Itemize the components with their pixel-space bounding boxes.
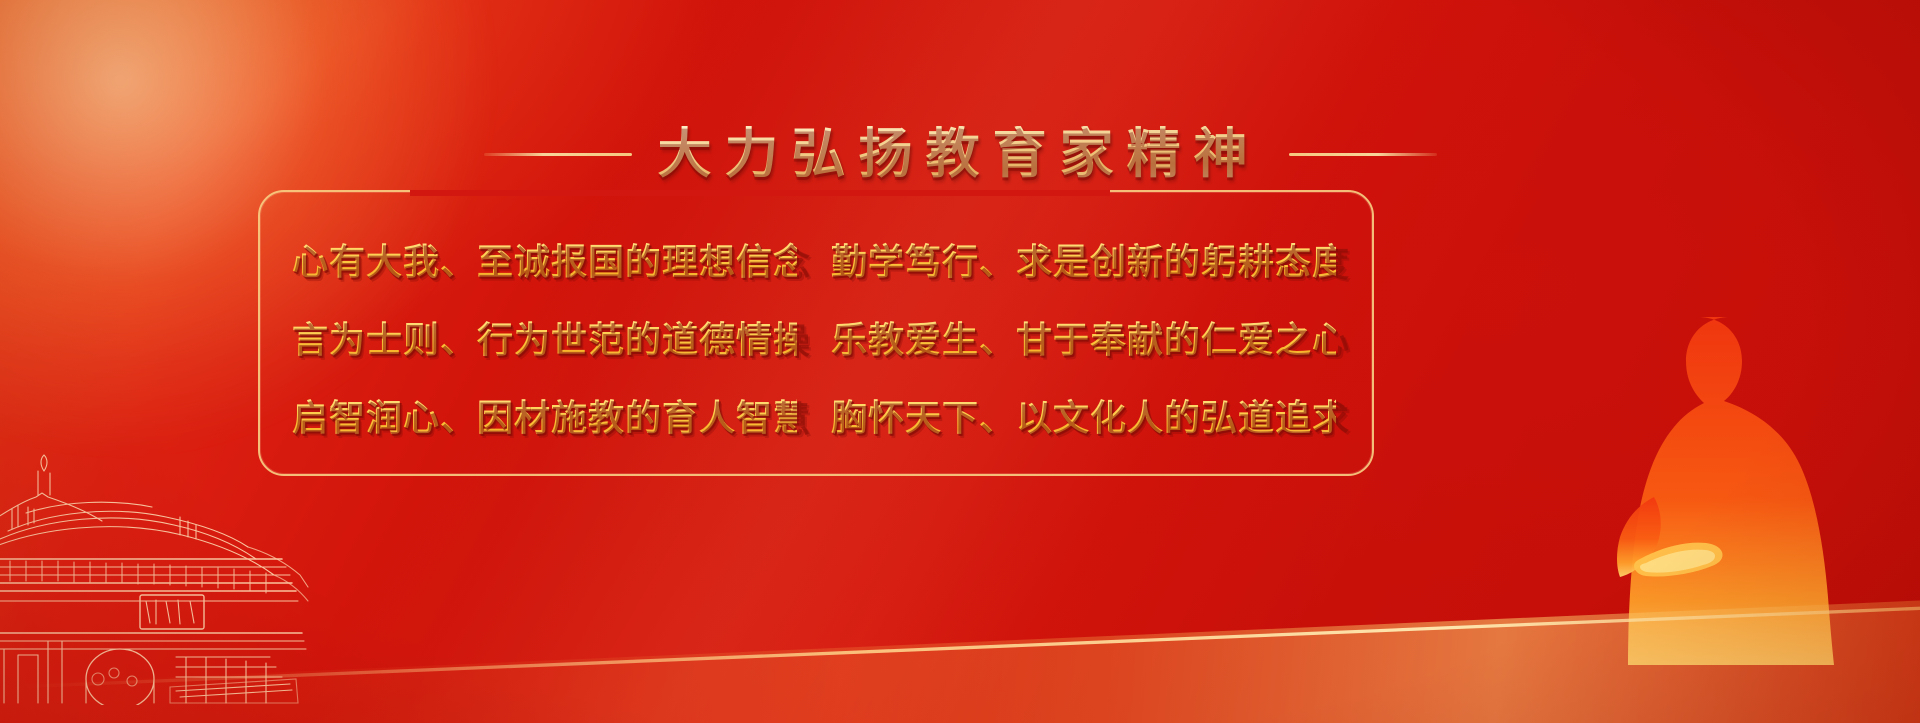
light-ray (0, 0, 61, 723)
bottom-gold-line (0, 558, 1920, 723)
bottom-gold-sweep (0, 548, 1920, 723)
slogan-right: 勤学笃行、求是创新的躬耕态度 (831, 233, 1336, 285)
slogan-right: 乐教爱生、甘于奉献的仁爱之心 (831, 311, 1336, 363)
banner-title: 大力弘扬教育家精神 (658, 126, 1263, 183)
title-left-dash (484, 153, 632, 156)
light-ray (0, 0, 79, 585)
slogan-right: 胸怀天下、以文化人的弘道追求 (831, 389, 1336, 441)
slogan-list: 心有大我、至诚报国的理想信念 勤学笃行、求是创新的躬耕态度 言为士则、行为世范的… (258, 214, 1370, 460)
light-ray (0, 0, 28, 723)
slogan-left: 言为士则、行为世范的道德情操 (292, 311, 797, 363)
tiananmen-gate-icon (0, 435, 320, 705)
banner-root: 大力弘扬教育家精神 心有大我、至诚报国的理想信念 勤学笃行、求是创新的躬耕态度 … (0, 0, 1920, 723)
title-right-dash (1289, 153, 1437, 156)
banner-title-row: 大力弘扬教育家精神 (0, 126, 1920, 183)
frame-title-notch (410, 190, 1110, 196)
teacher-silhouette-icon (1548, 311, 1848, 671)
slogan-left: 心有大我、至诚报国的理想信念 (292, 233, 797, 285)
slogan-row: 启智润心、因材施教的育人智慧 胸怀天下、以文化人的弘道追求 (292, 389, 1336, 441)
slogan-row: 心有大我、至诚报国的理想信念 勤学笃行、求是创新的躬耕态度 (292, 233, 1336, 285)
slogan-left: 启智润心、因材施教的育人智慧 (292, 389, 797, 441)
slogan-row: 言为士则、行为世范的道德情操 乐教爱生、甘于奉献的仁爱之心 (292, 311, 1336, 363)
